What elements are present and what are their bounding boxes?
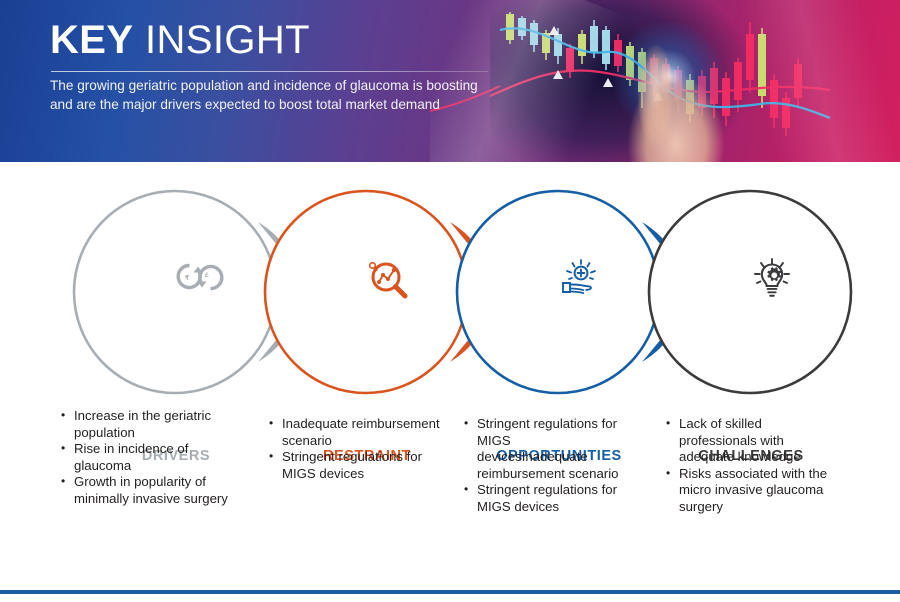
list-item: Rise in incidence of glaucoma [60,441,240,474]
list-item: Increase in the geriatric population [60,408,240,441]
list-item: Growth in popularity of minimally invasi… [60,474,240,507]
footer-divider [0,590,900,594]
header-photo [430,0,900,162]
list-item: Inadequate reimbursement scenario [268,416,440,449]
circle-challenges [649,191,851,393]
circle-drivers [74,191,276,393]
svg-text:£: £ [205,272,209,279]
header-banner: KEY INSIGHT The growing geriatric popula… [0,0,900,162]
page-title: KEY INSIGHT [50,20,310,60]
insight-circle-row: ₹ £ [0,162,900,412]
list-item: Lack of skilled professionals with adequ… [665,416,837,466]
bullet-columns: Increase in the geriatric population Ris… [0,408,900,558]
bullet-column-restraint: Inadequate reimbursement scenario String… [268,416,440,482]
circle-restraint [265,191,467,393]
bullet-column-challenges: Lack of skilled professionals with adequ… [665,416,837,516]
list-item: Risks associated with the micro invasive… [665,466,837,516]
svg-text:₹: ₹ [185,275,189,282]
title-divider [51,71,488,72]
bullet-column-drivers: Increase in the geriatric population Ris… [60,408,240,508]
bullet-column-opportunities: Stringent regulations for MIGS devicesIn… [463,416,623,516]
page-title-bold: KEY [50,18,133,62]
list-item: Stringent regulations for MIGS devicesIn… [463,416,623,482]
list-item: Stringent regulations for MIGS devices [463,482,623,515]
circle-opportunities [457,191,659,393]
page-subtitle: The growing geriatric population and inc… [50,76,495,114]
page-title-light: INSIGHT [133,18,310,62]
list-item: Stringent regulations for MIGS devices [268,449,440,482]
